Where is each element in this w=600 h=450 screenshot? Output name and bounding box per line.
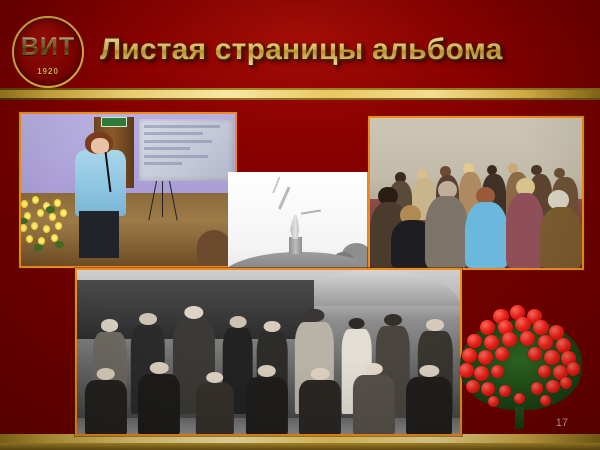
slide-vignette — [0, 0, 600, 450]
presentation-slide: ВИТ 1920 Листая страницы альбома — [0, 0, 600, 450]
page-number: 17 — [556, 417, 568, 429]
